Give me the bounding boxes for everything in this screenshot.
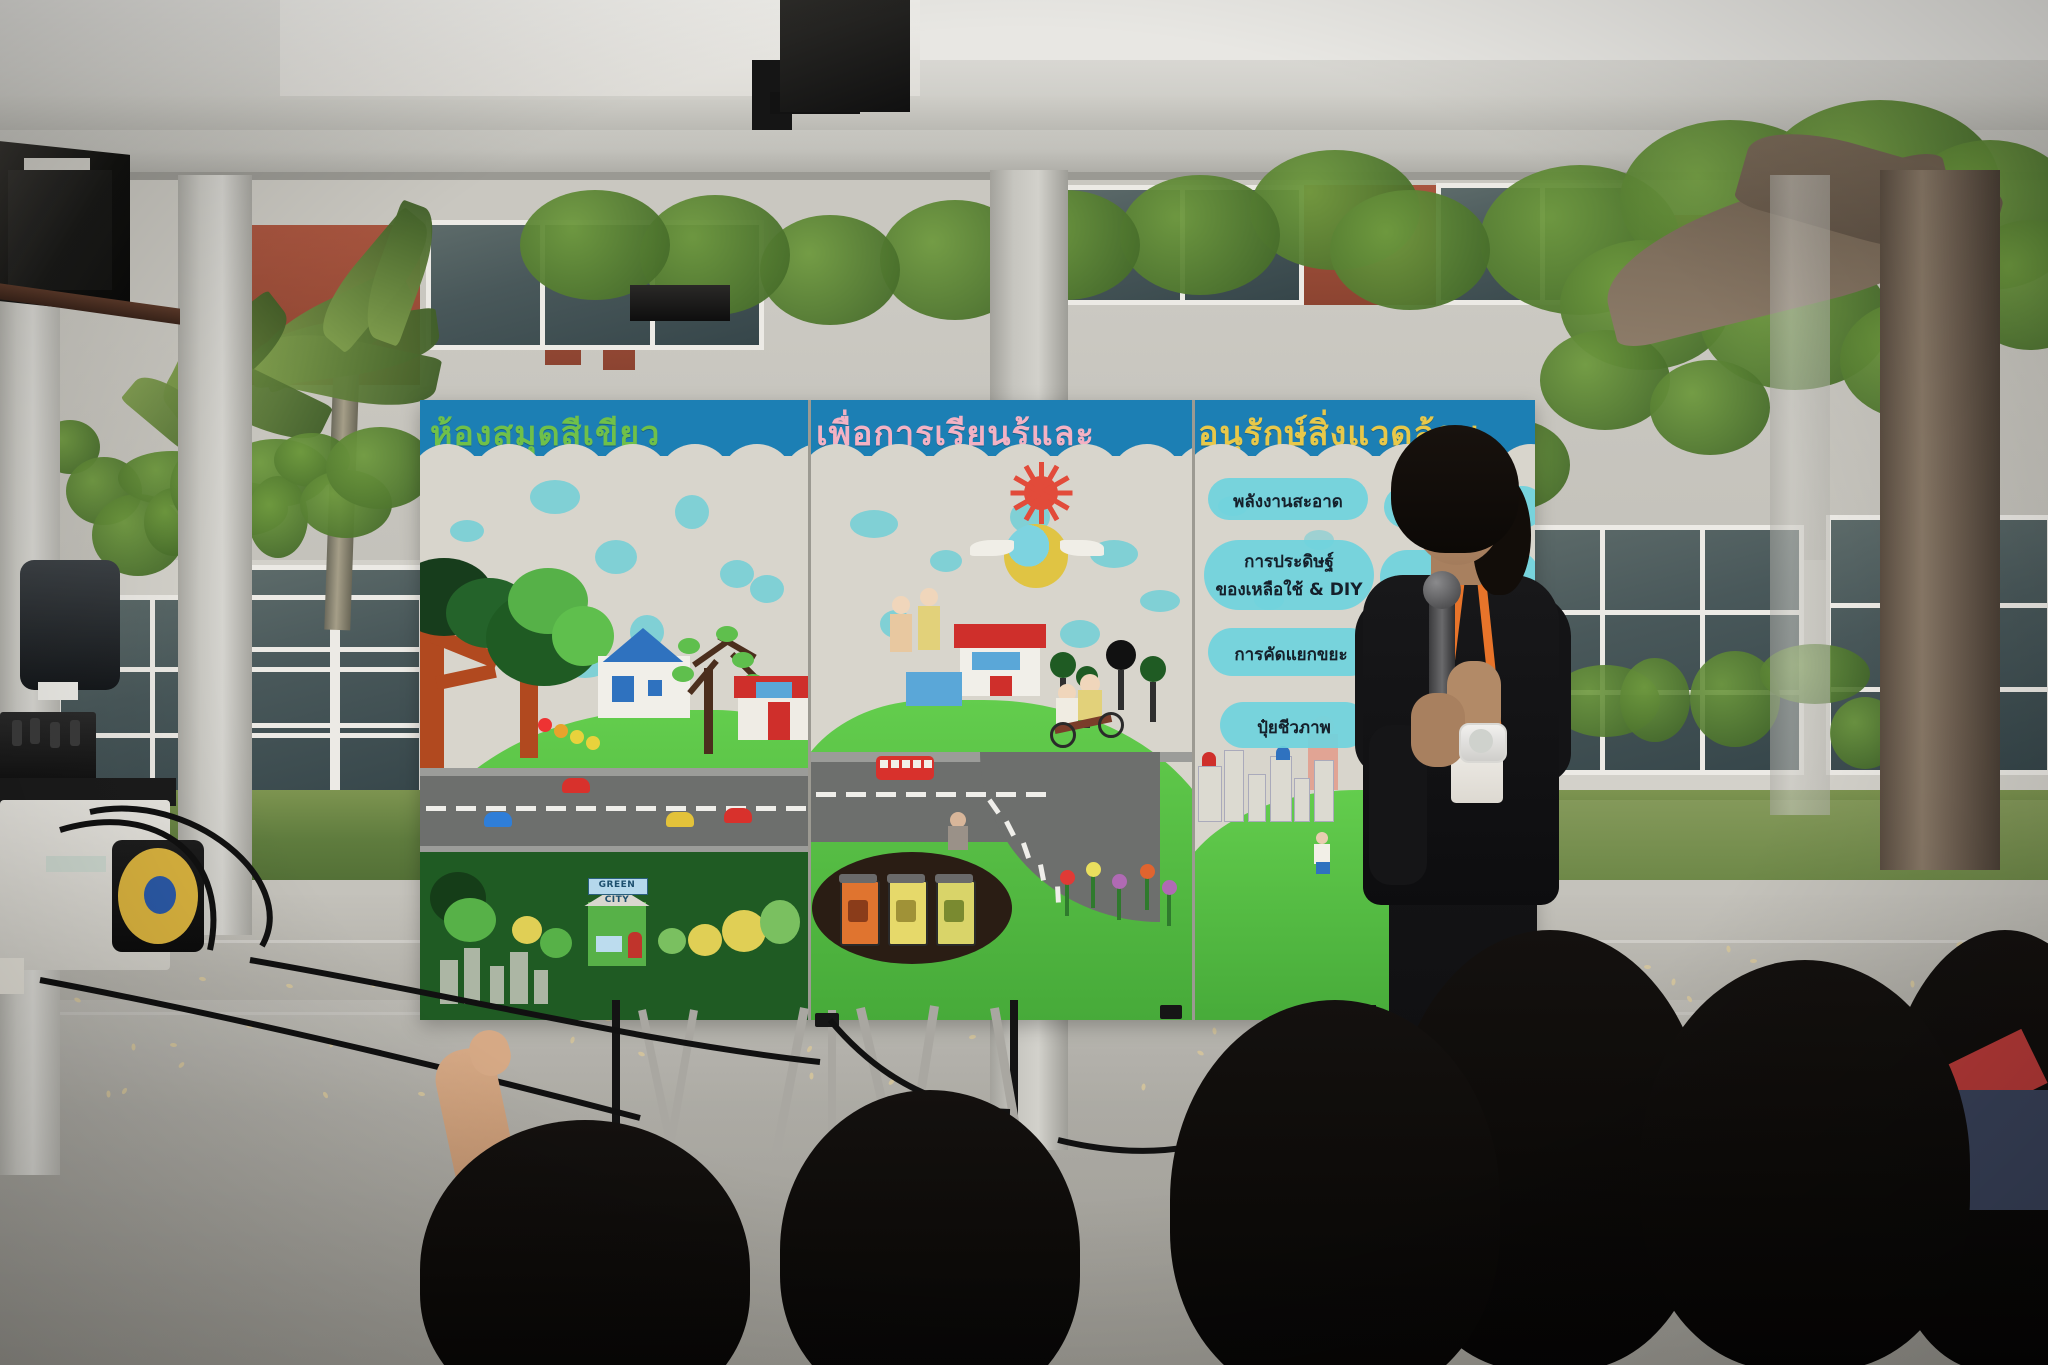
mural-flower bbox=[586, 736, 600, 750]
leaf-clump bbox=[1330, 190, 1490, 310]
mural-bin-symbol bbox=[848, 900, 868, 922]
mural-flower bbox=[1112, 874, 1127, 889]
mural-person-body bbox=[948, 826, 968, 850]
mural-motorbike-wheel bbox=[1050, 722, 1076, 748]
mural-tree-trunk bbox=[1118, 670, 1124, 710]
mural-leaf bbox=[716, 626, 738, 642]
mural-leaf bbox=[678, 638, 700, 654]
presenter-hair bbox=[1391, 425, 1519, 553]
binder-clip bbox=[815, 1013, 839, 1027]
topic-bubble-label: การคัดแยกขยะ bbox=[1208, 641, 1374, 668]
mural-bin-symbol bbox=[944, 900, 964, 922]
mural-flower bbox=[1162, 880, 1177, 895]
mural-road-dash bbox=[846, 792, 866, 797]
sky-dot bbox=[850, 510, 898, 538]
mural-bin-symbol bbox=[896, 900, 916, 922]
mural-child-head bbox=[920, 588, 938, 606]
mural-flower bbox=[1140, 864, 1155, 879]
mural-road-dash bbox=[696, 806, 716, 811]
mural-road-dash bbox=[606, 806, 626, 811]
mural-road-dash bbox=[1026, 792, 1046, 797]
panel-seam bbox=[808, 400, 811, 1020]
cloud-scallop bbox=[810, 444, 1192, 490]
mural-flower-stem bbox=[1091, 874, 1095, 908]
mural-tree-canopy bbox=[1140, 656, 1166, 682]
leaf-clump bbox=[1120, 175, 1280, 295]
mural-road-dash bbox=[516, 806, 536, 811]
mural-tree bbox=[540, 928, 572, 958]
cart-label bbox=[46, 856, 106, 872]
mural-city-block bbox=[1198, 766, 1222, 822]
mural-child-body bbox=[918, 606, 940, 650]
mural-flower bbox=[538, 718, 552, 732]
licence-plate bbox=[38, 682, 78, 700]
mural-building-window bbox=[596, 936, 622, 952]
panel-seam bbox=[1192, 400, 1195, 1020]
mural-tree bbox=[444, 898, 496, 942]
mural-house-window bbox=[648, 680, 662, 696]
mural-road-dash bbox=[786, 806, 806, 811]
mural-road-dash bbox=[576, 806, 596, 811]
presenter-hand-left bbox=[1411, 693, 1465, 767]
mural-road-dash bbox=[486, 806, 506, 811]
mural-city-block bbox=[464, 948, 480, 1004]
mural-car-yellow bbox=[666, 812, 694, 827]
mural-city-block bbox=[510, 952, 528, 1004]
mural-house-window bbox=[972, 652, 1020, 670]
concrete-column bbox=[178, 175, 252, 935]
mural-road-edge bbox=[420, 768, 808, 776]
mural-rider-body bbox=[1056, 698, 1078, 724]
cloud-scallop bbox=[420, 444, 808, 490]
mural-tree bbox=[688, 924, 722, 956]
sky-dot bbox=[1060, 620, 1100, 648]
audio-rack bbox=[0, 712, 96, 784]
mural-road-dash bbox=[636, 806, 656, 811]
mural-building-body bbox=[906, 672, 962, 706]
mural-flower-stem bbox=[1145, 876, 1149, 910]
mural-road-dash bbox=[816, 792, 836, 797]
audience-head bbox=[1640, 960, 1970, 1365]
mural-flower-stem bbox=[1065, 882, 1069, 916]
banner-panel-left: ห้องสมุดสีเขียว GREEN CITY bbox=[420, 400, 808, 1020]
mural-bin-lid bbox=[839, 874, 877, 883]
mural-road-dash bbox=[966, 792, 986, 797]
leaf-clump bbox=[248, 476, 308, 558]
mural-leaf bbox=[672, 666, 694, 682]
mural-house-door bbox=[768, 702, 790, 740]
leaf-litter bbox=[1644, 965, 1651, 970]
sky-dot bbox=[595, 540, 637, 574]
mural-person-legs bbox=[1316, 862, 1330, 874]
mural-bus-window bbox=[902, 760, 910, 768]
mural-tree bbox=[512, 916, 542, 944]
mural-flower bbox=[570, 730, 584, 744]
mural-tree-canopy bbox=[1050, 652, 1076, 678]
mural-leaf bbox=[732, 652, 754, 668]
tree-trunk bbox=[1880, 170, 2000, 870]
sky-dot bbox=[675, 495, 709, 529]
mural-person-head bbox=[1316, 832, 1328, 844]
mural-bin-lid bbox=[935, 874, 973, 883]
mural-road-dash bbox=[906, 792, 926, 797]
mural-tree bbox=[658, 928, 686, 954]
leaf-clump bbox=[326, 427, 434, 509]
mural-person-body bbox=[1314, 844, 1330, 864]
mural-car-blue bbox=[484, 812, 512, 827]
cable-reel-hub bbox=[144, 876, 176, 914]
leaf-clump bbox=[1650, 360, 1770, 455]
mural-tree-canopy bbox=[1106, 640, 1136, 670]
sky-dot bbox=[720, 560, 754, 588]
mural-bus-window bbox=[891, 760, 899, 768]
mural-globe-wing bbox=[970, 540, 1014, 556]
mural-house-window bbox=[612, 676, 634, 702]
sky-dot bbox=[530, 480, 580, 514]
topic-bubble-label: การประดิษฐ์ bbox=[1204, 548, 1374, 575]
leaf-litter bbox=[1910, 980, 1914, 987]
mural-bus-window bbox=[880, 760, 888, 768]
mural-sign-text: GREEN CITY bbox=[588, 878, 646, 893]
leaf-clump bbox=[520, 190, 670, 300]
mural-road-dash bbox=[1055, 886, 1061, 902]
mural-bin-lid bbox=[887, 874, 925, 883]
topic-bubble-label: ของเหลือใช้ & DIY bbox=[1204, 576, 1374, 603]
mural-road-dash bbox=[456, 806, 476, 811]
mural-road-dash bbox=[756, 806, 776, 811]
binder-clip bbox=[1160, 1005, 1182, 1019]
mural-city-roof bbox=[1276, 746, 1290, 760]
shrub-clump bbox=[1620, 658, 1690, 742]
mural-flower bbox=[1086, 862, 1101, 877]
banner-panel-middle: เพื่อการเรียนรู้และ bbox=[810, 400, 1192, 1020]
mural-city-block bbox=[1314, 760, 1334, 822]
mural-flower-stem bbox=[1117, 886, 1121, 920]
mural-tree-trunk bbox=[1150, 682, 1156, 722]
mural-road-dash bbox=[666, 806, 686, 811]
floor-box bbox=[0, 958, 24, 994]
sky-dot bbox=[1140, 590, 1180, 612]
mural-city-roof bbox=[1202, 752, 1216, 766]
mural-road-dash bbox=[936, 792, 956, 797]
concrete-column bbox=[1770, 175, 1830, 815]
mural-house-roof bbox=[954, 624, 1046, 648]
mural-tree bbox=[722, 910, 766, 952]
mural-building-door bbox=[628, 932, 642, 958]
mural-flower bbox=[554, 724, 568, 738]
pa-speaker-grill bbox=[8, 170, 112, 290]
mural-city-block bbox=[440, 960, 458, 1004]
mural-city-block bbox=[1294, 778, 1310, 822]
mural-road-dash bbox=[876, 792, 896, 797]
mural-bus-window bbox=[913, 760, 921, 768]
mural-car-red bbox=[562, 778, 590, 793]
sky-dot bbox=[750, 575, 784, 603]
mural-road-dash bbox=[996, 792, 1016, 797]
mural-flower bbox=[1060, 870, 1075, 885]
mural-house-window bbox=[756, 682, 792, 698]
ceiling-soffit-right bbox=[920, 0, 2048, 60]
topic-bubble-label: พลังงานสะอาด bbox=[1208, 488, 1368, 515]
mural-bare-tree-trunk bbox=[704, 668, 713, 754]
sky-dot bbox=[450, 520, 484, 542]
window-mullion bbox=[240, 647, 430, 652]
wristwatch-face bbox=[1469, 729, 1493, 753]
mural-car-red bbox=[724, 808, 752, 823]
mural-flower-stem bbox=[1167, 892, 1171, 926]
mural-motorbike-wheel bbox=[1098, 712, 1124, 738]
photo-scene: ห้องสมุดสีเขียว GREEN CITY เพื่อการเรียน… bbox=[0, 0, 2048, 1365]
mural-city-block bbox=[1224, 750, 1244, 822]
mural-child-body bbox=[890, 614, 912, 652]
mural-road-dash bbox=[546, 806, 566, 811]
window-mullion bbox=[150, 600, 155, 800]
parked-vehicle bbox=[20, 560, 120, 690]
mural-bus-window bbox=[924, 760, 932, 768]
pa-speaker-small bbox=[630, 285, 730, 321]
mural-house-door bbox=[990, 676, 1012, 696]
mural-city-block bbox=[490, 966, 504, 1004]
mural-city-block bbox=[1248, 774, 1266, 822]
mural-city-block bbox=[1270, 756, 1292, 822]
topic-bubble-label: ปุ๋ยชีวภาพ bbox=[1220, 714, 1368, 741]
mural-city-block bbox=[534, 970, 548, 1004]
leaf-litter bbox=[131, 1043, 135, 1050]
mural-road-dash bbox=[426, 806, 446, 811]
pa-speaker-ceiling bbox=[780, 0, 910, 112]
mural-globe bbox=[1004, 524, 1068, 588]
mural-tree bbox=[760, 900, 800, 944]
window-mullion bbox=[240, 723, 430, 728]
mural-globe-wing bbox=[1060, 540, 1104, 556]
pa-speaker-label bbox=[24, 158, 90, 170]
microphone-head bbox=[1423, 571, 1461, 609]
mural-child-head bbox=[892, 596, 910, 614]
leaf-litter bbox=[106, 1090, 110, 1097]
sky-dot bbox=[930, 550, 962, 572]
